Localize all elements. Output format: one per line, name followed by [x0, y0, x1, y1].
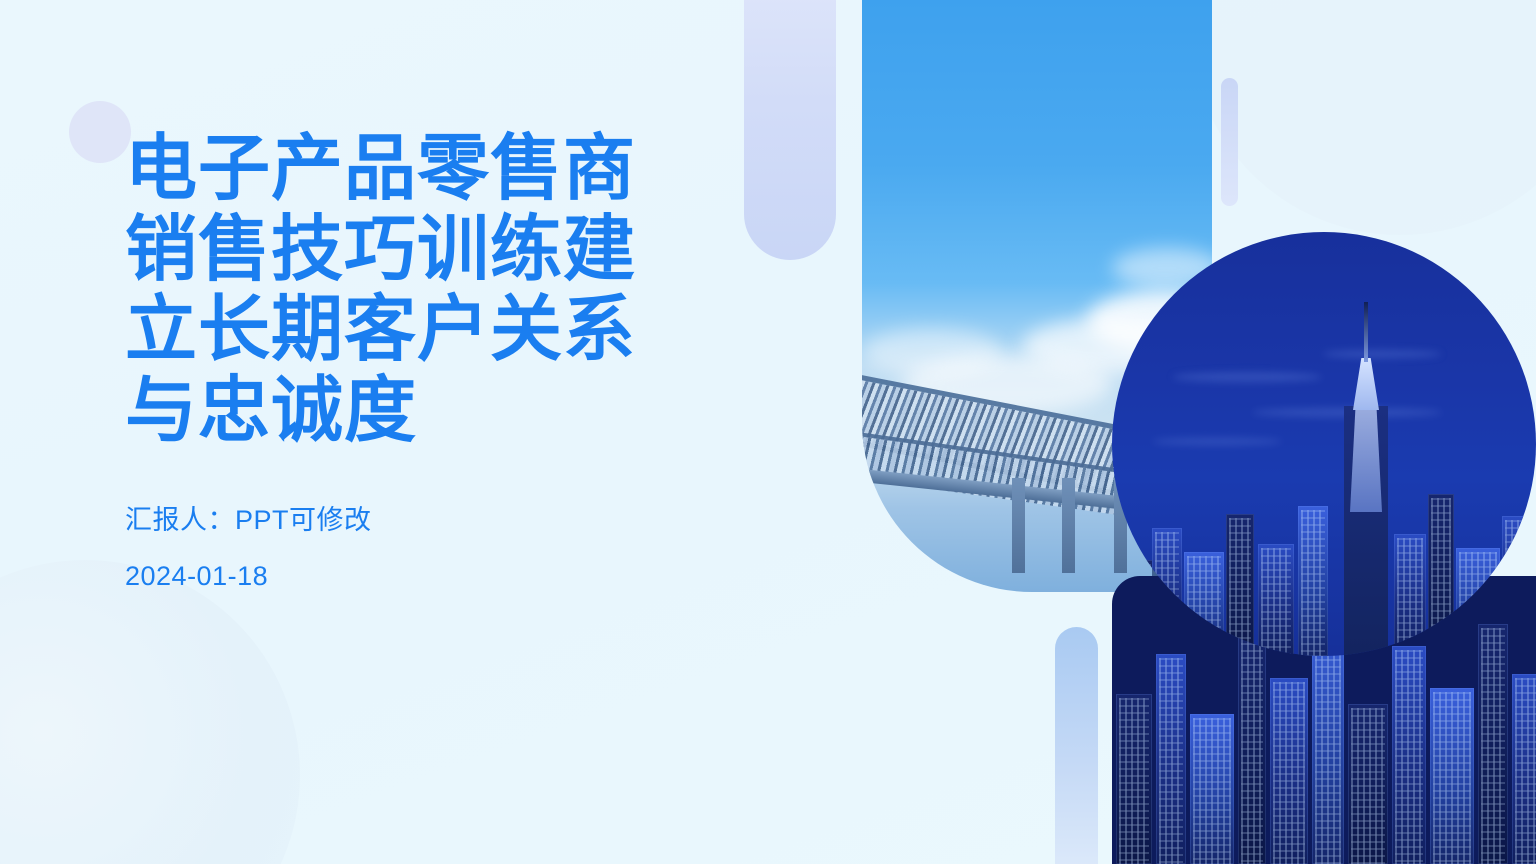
city-photo-circle: [1112, 232, 1536, 656]
building: [1478, 624, 1508, 864]
building: [1430, 688, 1474, 864]
presentation-slide: 电子产品零售商 销售技巧训练建 立长期客户关系 与忠诚度 汇报人：PPT可修改 …: [0, 0, 1536, 864]
decorative-circle-bottom-left: [0, 560, 300, 864]
esb-shaft: [1350, 402, 1382, 512]
empire-state-building: [1344, 406, 1388, 656]
building: [1456, 548, 1500, 656]
presenter-label: 汇报人：PPT可修改: [125, 498, 745, 537]
esb-spire: [1364, 302, 1368, 362]
building: [1258, 544, 1294, 656]
bridge-pier: [1062, 478, 1075, 573]
decorative-pill-top: [744, 0, 836, 260]
building: [1512, 674, 1536, 864]
building: [1394, 534, 1426, 656]
building: [1226, 514, 1254, 656]
building: [1392, 646, 1426, 864]
building: [1238, 632, 1266, 864]
building: [1348, 704, 1388, 864]
page-title: 电子产品零售商 销售技巧训练建 立长期客户关系 与忠诚度: [125, 128, 745, 451]
building: [1502, 516, 1532, 656]
sky-streak: [1152, 438, 1282, 445]
building: [1156, 654, 1186, 864]
building: [1184, 552, 1224, 656]
title-text-block: 电子产品零售商 销售技巧训练建 立长期客户关系 与忠诚度 汇报人：PPT可修改 …: [125, 128, 745, 592]
building: [1152, 528, 1182, 656]
bridge-pier: [1012, 478, 1025, 573]
building: [1298, 506, 1328, 656]
building: [1116, 694, 1152, 864]
cloud-shape: [862, 328, 1002, 376]
decorative-circle-top-left: [69, 101, 131, 163]
building: [1312, 620, 1344, 864]
building: [1190, 714, 1234, 864]
decorative-pill-bottom: [1055, 627, 1098, 864]
building: [1270, 678, 1308, 864]
decorative-circle-top-right: [1190, 0, 1536, 235]
building: [1428, 494, 1454, 656]
building: [1120, 560, 1154, 656]
date-label: 2024-01-18: [125, 561, 745, 592]
decorative-pill-right: [1221, 78, 1238, 206]
sky-streak: [1172, 372, 1322, 382]
sky-streak: [1322, 350, 1442, 358]
esb-crown: [1353, 358, 1379, 410]
